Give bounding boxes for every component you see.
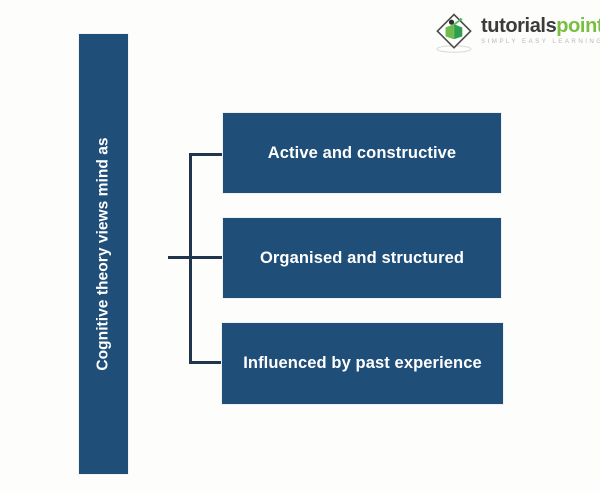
branch-node-3-label: Influenced by past experience	[243, 354, 482, 373]
connector-branch-2	[189, 256, 223, 259]
diagram-canvas: tutorialspoint SIMPLY EASY LEARNING Cogn…	[0, 0, 600, 491]
branch-node-2: Organised and structured	[223, 218, 501, 298]
tutorialspoint-diamond-book-icon	[431, 9, 477, 55]
root-node-cognitive-theory: Cognitive theory views mind as	[79, 34, 128, 474]
branch-node-2-label: Organised and structured	[260, 249, 464, 268]
brand-title: tutorialspoint	[481, 16, 600, 36]
branch-node-1: Active and constructive	[223, 113, 501, 193]
root-node-label: Cognitive theory views mind as	[95, 137, 113, 370]
tutorialspoint-logo: tutorialspoint SIMPLY EASY LEARNING	[431, 8, 593, 56]
brand-name-part2: point	[556, 15, 600, 37]
connector-branch-3	[189, 361, 222, 364]
branch-node-3: Influenced by past experience	[222, 323, 503, 404]
connector-branch-1	[189, 153, 223, 156]
branch-node-1-label: Active and constructive	[268, 144, 456, 163]
brand-tagline: SIMPLY EASY LEARNING	[481, 39, 600, 45]
brand-wordmark: tutorialspoint SIMPLY EASY LEARNING	[481, 16, 600, 47]
brand-name-part1: tutorials	[481, 15, 556, 37]
